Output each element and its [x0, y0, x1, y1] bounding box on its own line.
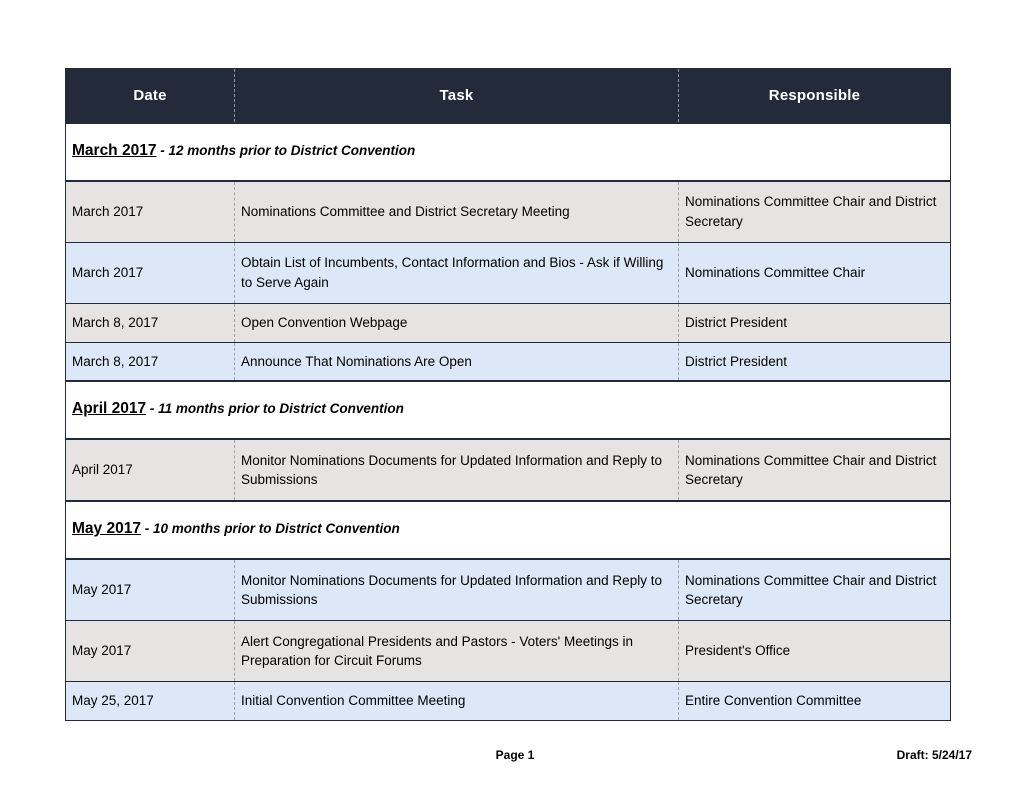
month-section-row: May 2017 - 10 months prior to District C… [66, 501, 951, 559]
cell-date: May 25, 2017 [66, 682, 235, 721]
cell-responsible: Nominations Committee Chair and District… [679, 559, 951, 621]
cell-responsible: Nominations Committee Chair [679, 243, 951, 304]
table-row: April 2017Monitor Nominations Documents … [66, 439, 951, 501]
month-section-row: April 2017 - 11 months prior to District… [66, 381, 951, 439]
cell-task: Alert Congregational Presidents and Past… [235, 621, 679, 682]
month-note: - 11 months prior to District Convention [146, 401, 404, 416]
cell-responsible: President's Office [679, 621, 951, 682]
table-row: March 8, 2017Open Convention WebpageDist… [66, 304, 951, 343]
cell-date: May 2017 [66, 621, 235, 682]
month-note: - 10 months prior to District Convention [141, 521, 400, 536]
cell-task: Monitor Nominations Documents for Update… [235, 559, 679, 621]
cell-task: Nominations Committee and District Secre… [235, 181, 679, 243]
table-row: March 8, 2017Announce That Nominations A… [66, 342, 951, 381]
cell-date: March 2017 [66, 243, 235, 304]
table-header-row: Date Task Responsible [66, 69, 951, 124]
document-page: Date Task Responsible March 2017 - 12 mo… [0, 0, 1030, 796]
cell-date: March 8, 2017 [66, 342, 235, 381]
cell-date: May 2017 [66, 559, 235, 621]
cell-date: March 8, 2017 [66, 304, 235, 343]
month-section-row: March 2017 - 12 months prior to District… [66, 123, 951, 181]
cell-responsible: District President [679, 342, 951, 381]
cell-task: Monitor Nominations Documents for Update… [235, 439, 679, 501]
footer-page-number: Page 1 [0, 748, 1030, 762]
cell-task: Open Convention Webpage [235, 304, 679, 343]
cell-responsible: Nominations Committee Chair and District… [679, 439, 951, 501]
month-section-cell: May 2017 - 10 months prior to District C… [66, 501, 951, 559]
month-note: - 12 months prior to District Convention [156, 143, 415, 158]
footer-draft-date: Draft: 5/24/17 [897, 748, 972, 762]
table-row: March 2017Obtain List of Incumbents, Con… [66, 243, 951, 304]
column-header-date: Date [66, 69, 235, 124]
month-label: March 2017 [72, 142, 156, 159]
month-section-cell: March 2017 - 12 months prior to District… [66, 123, 951, 181]
cell-date: April 2017 [66, 439, 235, 501]
table-header: Date Task Responsible [66, 69, 951, 124]
column-header-task: Task [235, 69, 679, 124]
cell-task: Announce That Nominations Are Open [235, 342, 679, 381]
table-row: May 2017Alert Congregational Presidents … [66, 621, 951, 682]
column-header-responsible: Responsible [679, 69, 951, 124]
table-row: March 2017Nominations Committee and Dist… [66, 181, 951, 243]
month-section-cell: April 2017 - 11 months prior to District… [66, 381, 951, 439]
schedule-table: Date Task Responsible March 2017 - 12 mo… [65, 68, 951, 721]
cell-task: Obtain List of Incumbents, Contact Infor… [235, 243, 679, 304]
table-row: May 2017Monitor Nominations Documents fo… [66, 559, 951, 621]
cell-date: March 2017 [66, 181, 235, 243]
month-label: April 2017 [72, 400, 146, 417]
cell-responsible: District President [679, 304, 951, 343]
month-label: May 2017 [72, 520, 141, 537]
cell-responsible: Nominations Committee Chair and District… [679, 181, 951, 243]
table-row: May 25, 2017Initial Convention Committee… [66, 682, 951, 721]
table-body: March 2017 - 12 months prior to District… [66, 123, 951, 720]
cell-task: Initial Convention Committee Meeting [235, 682, 679, 721]
cell-responsible: Entire Convention Committee [679, 682, 951, 721]
